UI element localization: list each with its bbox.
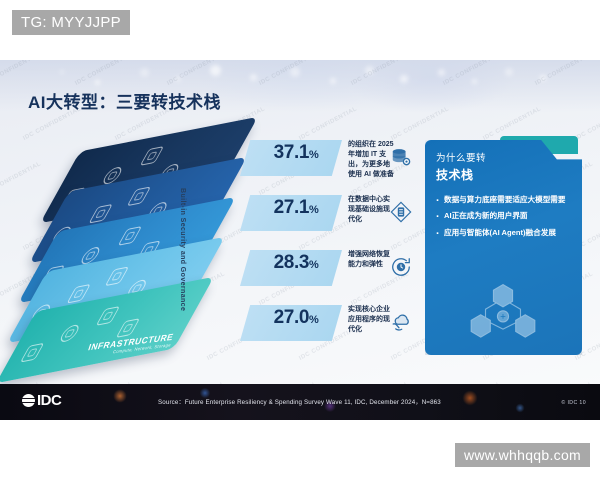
technology-stack-graphic: APPLICATION Apps and Services AUTOMATION… bbox=[14, 138, 224, 338]
stat-value: 37.1% bbox=[248, 142, 344, 164]
stat-value: 28.3% bbox=[248, 252, 344, 274]
stat-description: 实现核心企业应用程序的现代化 bbox=[348, 305, 394, 335]
network-cubes-icon bbox=[461, 283, 545, 345]
resilience-refresh-icon bbox=[390, 256, 412, 278]
copyright-and-page: © IDC 10 bbox=[561, 400, 586, 406]
panel-bullet-list: 数据与算力底座需要适应大模型需要 AI正在成为新的用户界面 应用与智能体(AI … bbox=[436, 194, 571, 238]
cloud-hand-icon bbox=[390, 311, 412, 333]
idc-logo-text: IDC bbox=[37, 392, 61, 409]
globe-icon bbox=[22, 394, 35, 407]
panel-heading-main: 技术栈 bbox=[436, 166, 571, 183]
stat-item: 27.0% 实现核心企业应用程序的现代化 bbox=[240, 303, 420, 355]
stats-column: 37.1% 的组织在 2025 年增加 IT 支出，为更多地使用 AI 做准备 … bbox=[240, 138, 420, 358]
source-citation: Source：Future Enterprise Resiliency & Sp… bbox=[158, 397, 441, 406]
watermark-bottom-right: www.whhqqb.com bbox=[455, 443, 590, 467]
panel-bullet: 数据与算力底座需要适应大模型需要 bbox=[436, 194, 571, 205]
why-transform-panel: 为什么要转 技术栈 数据与算力底座需要适应大模型需要 AI正在成为新的用户界面 … bbox=[425, 140, 582, 355]
panel-heading-top: 为什么要转 bbox=[436, 150, 571, 164]
stat-description: 的组织在 2025 年增加 IT 支出，为更多地使用 AI 做准备 bbox=[348, 140, 394, 181]
stat-value: 27.0% bbox=[248, 307, 344, 329]
stat-description: 在数据中心实现基础设施现代化 bbox=[348, 195, 394, 225]
footer-bar: IDC Source：Future Enterprise Resiliency … bbox=[0, 384, 600, 420]
watermark-top-left: TG: MYYJJPP bbox=[12, 10, 130, 35]
stat-value: 27.1% bbox=[248, 197, 344, 219]
database-gear-icon bbox=[390, 146, 412, 168]
slide-canvas: IDC CONFIDENTIALIDC CONFIDENTIALIDC CONF… bbox=[0, 60, 600, 420]
stat-description: 增强网络恢复能力和弹性 bbox=[348, 250, 394, 270]
built-in-security-label: Built-in Security and Governance bbox=[179, 188, 186, 311]
panel-bullet: 应用与智能体(AI Agent)融合发展 bbox=[436, 227, 571, 238]
idc-logo: IDC bbox=[22, 392, 61, 409]
stat-item: 37.1% 的组织在 2025 年增加 IT 支出，为更多地使用 AI 做准备 bbox=[240, 138, 420, 190]
panel-bullet: AI正在成为新的用户界面 bbox=[436, 210, 571, 221]
page-title: AI大转型：三要转技术栈 bbox=[28, 88, 221, 113]
stat-item: 27.1% 在数据中心实现基础设施现代化 bbox=[240, 193, 420, 245]
server-diamond-icon bbox=[390, 201, 412, 223]
stat-item: 28.3% 增强网络恢复能力和弹性 bbox=[240, 248, 420, 300]
